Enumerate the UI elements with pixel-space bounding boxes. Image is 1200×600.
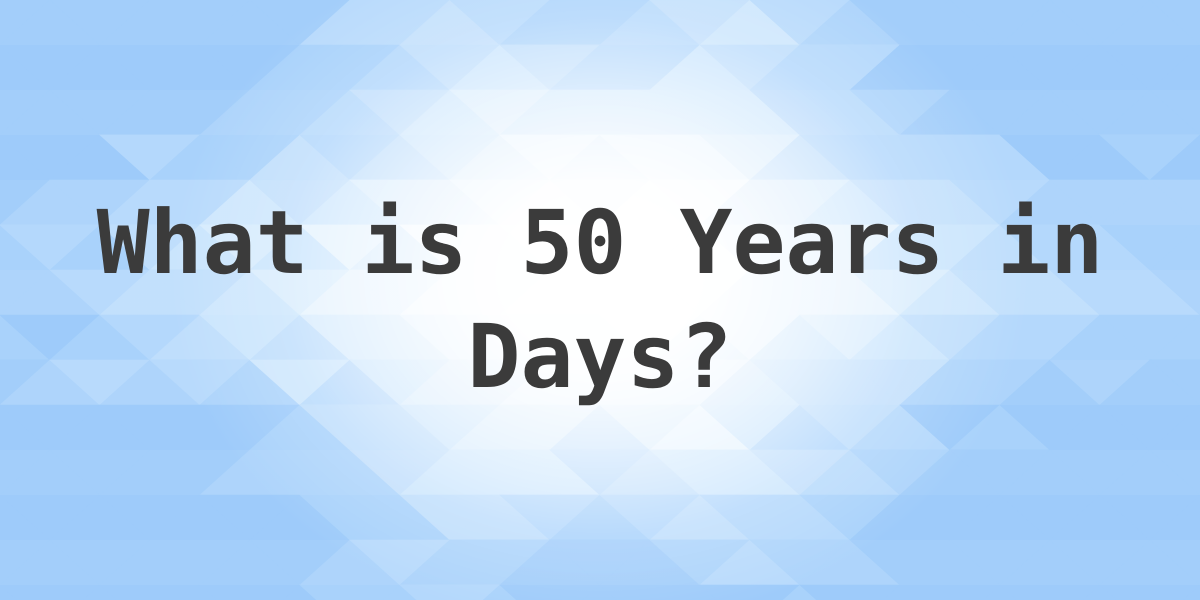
conversion-question-card: What is 50 Years in Days? <box>0 0 1200 600</box>
low-poly-background <box>0 0 1200 600</box>
